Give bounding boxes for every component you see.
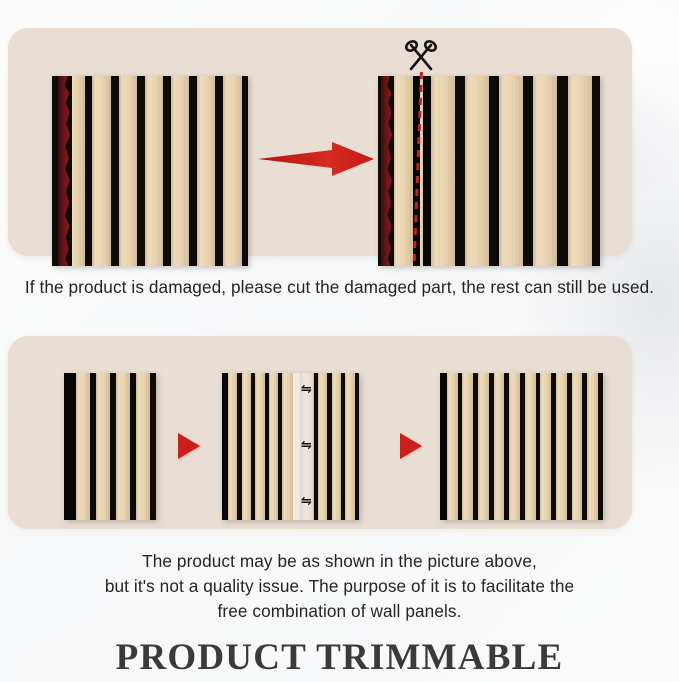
- section-2-caption: The product may be as shown in the pictu…: [0, 549, 679, 624]
- joint-mark: ⇋: [301, 383, 312, 396]
- section-1-caption: If the product is damaged, please cut th…: [0, 275, 679, 300]
- slat-group: [222, 373, 359, 520]
- damage-tear: [52, 76, 72, 266]
- panel-joint: ⇋ ⇋ ⇋: [300, 373, 313, 520]
- product-infographic: If the product is damaged, please cut th…: [0, 0, 679, 682]
- combine-arrow-icon: [178, 433, 200, 459]
- caption-line: The product may be as shown in the pictu…: [0, 549, 679, 574]
- joined-wall-panels: ⇋ ⇋ ⇋: [222, 373, 359, 520]
- joint-mark: ⇋: [301, 495, 312, 508]
- combine-arrow-icon: [400, 433, 422, 459]
- caption-line: the rest can still be used.: [461, 277, 654, 297]
- joint-mark: ⇋: [301, 439, 312, 452]
- single-wall-panel: [64, 373, 156, 520]
- damaged-wall-panel: [52, 76, 248, 266]
- scissors-icon: [402, 38, 440, 74]
- transform-arrow-icon: [258, 142, 374, 176]
- caption-line: but it's not a quality issue. The purpos…: [0, 574, 679, 599]
- slat-group: [378, 76, 600, 266]
- headline-text: PRODUCT TRIMMABLE: [0, 636, 679, 679]
- trimmed-wall-panel: [378, 76, 600, 266]
- caption-line: free combination of wall panels.: [0, 599, 679, 624]
- combined-wall-panel: [440, 373, 603, 520]
- slat-group: [440, 373, 603, 520]
- caption-line: If the product is damaged, please cut th…: [25, 277, 457, 297]
- slat-group: [52, 76, 248, 266]
- slat-group: [64, 373, 156, 520]
- damage-tear: [378, 76, 394, 266]
